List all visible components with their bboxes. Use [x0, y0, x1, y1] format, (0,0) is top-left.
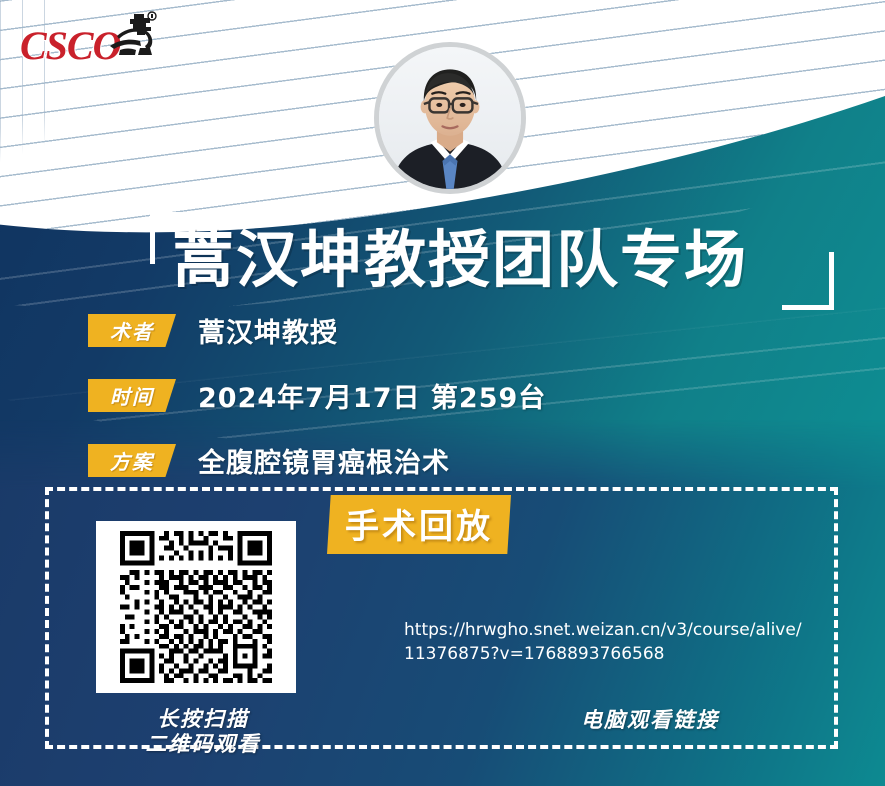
scan-caption: 长按扫描 二维码观看	[118, 707, 288, 757]
qr-code[interactable]	[96, 521, 296, 693]
csco-logo: CSCO	[12, 8, 162, 70]
badge-procedure: 方案	[88, 444, 176, 477]
info-value-procedure: 全腹腔镜胃癌根治术	[198, 441, 450, 480]
replay-url[interactable]: https://hrwgho.snet.weizan.cn/v3/course/…	[404, 618, 804, 666]
info-row-procedure: 方案 全腹腔镜胃癌根治术	[88, 438, 848, 483]
info-value-time: 2024年7月17日 第259台	[198, 376, 546, 415]
info-value-speaker: 蒿汉坤教授	[198, 311, 338, 350]
scan-caption-line1: 长按扫描	[157, 707, 249, 731]
info-row-speaker: 术者 蒿汉坤教授	[88, 308, 848, 353]
replay-badge: 手术回放	[327, 495, 511, 554]
speaker-portrait	[374, 42, 526, 194]
pc-caption: 电脑观看链接	[540, 708, 760, 733]
badge-speaker: 术者	[88, 314, 176, 347]
csco-emblem-icon	[104, 10, 162, 67]
info-rows: 术者 蒿汉坤教授 时间 2024年7月17日 第259台 方案 全腹腔镜胃癌根治…	[88, 308, 848, 503]
poster-canvas: CSCO	[0, 0, 885, 786]
badge-time: 时间	[88, 379, 176, 412]
scan-caption-line2: 二维码观看	[146, 732, 261, 756]
page-title: 蒿汉坤教授团队专场	[172, 225, 812, 295]
info-row-time: 时间 2024年7月17日 第259台	[88, 373, 848, 418]
